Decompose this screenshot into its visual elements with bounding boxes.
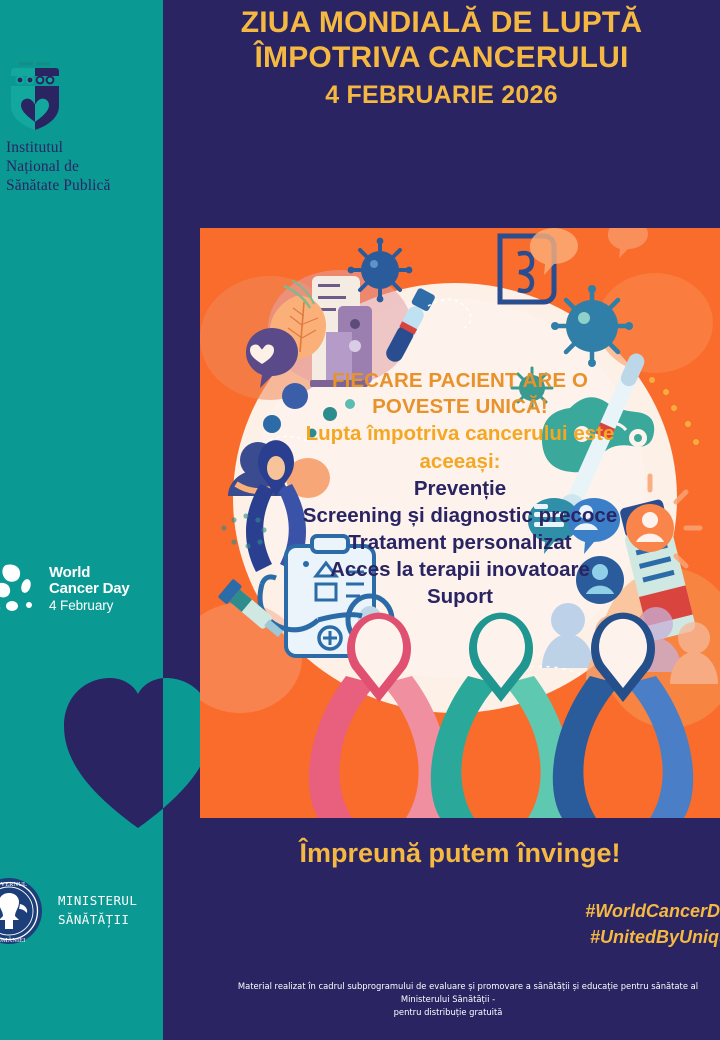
ministry-line-1: MINISTERUL [58,892,137,911]
message-highlight-2: POVESTE UNICĂ! [260,394,660,420]
illustration-panel: FIECARE PACIENT ARE O POVESTE UNICĂ! Lup… [200,228,720,818]
poster: Institutul Național de Sănătate Publică … [0,0,720,1040]
romania-government-seal-icon: GUVERNUL ROMÂNIEI [0,876,44,946]
message-highlight-4: aceeași: [260,449,660,475]
insp-line-3: Sănătate Publică [6,177,156,196]
world-cancer-day-logo: World Cancer Day 4 February [0,557,156,623]
wcd-line-3: 4 February [49,597,130,615]
message-item-3: Acces la terapii inovatoare [260,556,660,583]
wcd-logo-text: World Cancer Day 4 February [49,565,130,615]
page-title: ZIUA MONDIALĂ DE LUPTĂ ÎMPOTRIVA CANCERU… [169,6,714,76]
poster-header: ZIUA MONDIALĂ DE LUPTĂ ÎMPOTRIVA CANCERU… [163,6,720,110]
ministry-line-2: SĂNĂTĂȚII [58,911,137,930]
fineprint-line-2: Ministerului Sănătății - [163,993,720,1006]
title-line-2: ÎMPOTRIVA CANCERULUI [169,41,714,76]
event-date: 4 FEBRUARIE 2026 [169,80,714,110]
message-item-1: Screening și diagnostic precoce [260,502,660,529]
tagline: Împreună putem învinge! [200,838,720,869]
central-message: FIECARE PACIENT ARE O POVESTE UNICĂ! Lup… [260,368,660,610]
ministry-logo: GUVERNUL ROMÂNIEI MINISTERUL SĂNĂTĂȚII [0,876,164,946]
message-item-0: Prevenție [260,475,660,502]
insp-line-2: Național de [6,158,156,177]
insp-logo-text: Institutul Național de Sănătate Publică [6,139,156,196]
message-highlight-1: FIECARE PACIENT ARE O [260,368,660,394]
ministry-logo-text: MINISTERUL SĂNĂTĂȚII [58,892,137,930]
title-line-1: ZIUA MONDIALĂ DE LUPTĂ [169,6,714,41]
fineprint-line-1: Material realizat în cadrul subprogramul… [203,980,720,993]
hashtags: #WorldCancerDay #UnitedByUnique [200,898,720,950]
hashtag-world-cancer-day: #WorldCancerDay [200,898,720,924]
hashtag-united-by-unique: #UnitedByUnique [200,924,720,950]
fineprint: Material realizat în cadrul subprogramul… [163,980,720,1019]
wcd-line-2: Cancer Day [49,581,130,597]
shield-heart-icon [6,62,64,130]
insp-line-1: Institutul [6,139,156,158]
split-heart-graphic [58,632,218,832]
message-item-2: Tratament personalizat [260,529,660,556]
insp-logo: Institutul Național de Sănătate Publică [6,62,156,196]
message-highlight-3: Lupta împotriva cancerului este [260,421,660,447]
wcd-dots-icon [0,561,46,619]
message-item-4: Suport [260,583,660,610]
heart-icon [58,632,218,832]
svg-text:GUVERNUL: GUVERNUL [0,881,27,888]
fineprint-line-3: pentru distribuție gratuită [163,1006,720,1019]
svg-text:ROMÂNIEI: ROMÂNIEI [0,936,25,944]
wcd-line-1: World [49,565,130,581]
